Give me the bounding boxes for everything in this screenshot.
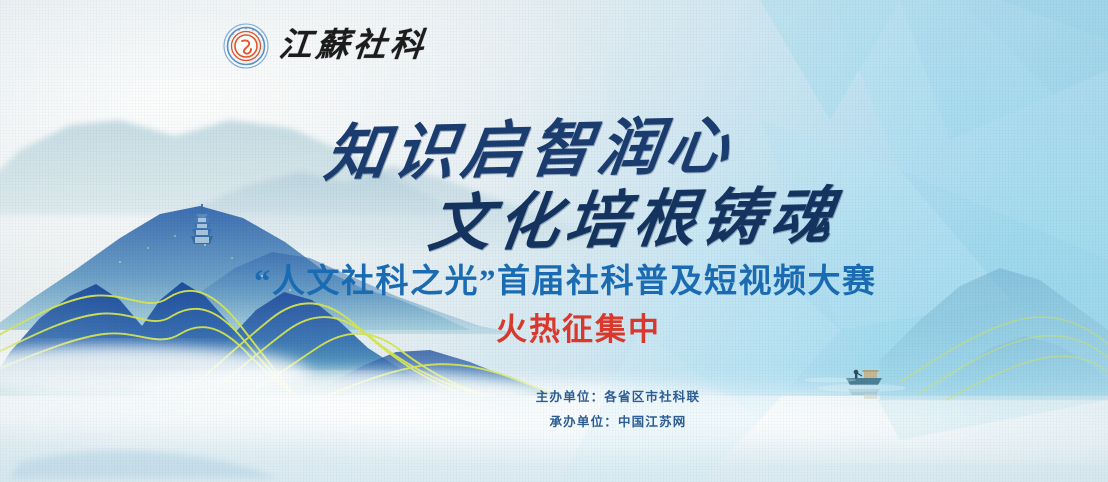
brand-logo[interactable]: 江蘇社科 [222, 22, 427, 70]
promotional-banner: 江蘇社科 知识启智润心 文化培根铸魂 “人文社科之光”首届社科普及短视频大赛 火… [0, 0, 1108, 482]
organizer-operator: 承办单位：中国江苏网 [0, 411, 1108, 430]
brand-wordmark: 江蘇社科 [277, 30, 428, 63]
call-to-action-text: 火热征集中 [496, 314, 661, 345]
organizer-host: 主办单位：各省区市社科联 [0, 386, 1108, 405]
contest-subtitle: “人文社科之光”首届社科普及短视频大赛 [254, 266, 877, 299]
headline-line-1: 知识启智润心 [321, 116, 739, 187]
headline-line-2: 文化培根铸魂 [425, 186, 843, 257]
jiangsu-social-science-seal-icon [222, 22, 270, 70]
organizer-host-label: 主办单位：各省区市社科联 [536, 386, 700, 405]
banner-content: 江蘇社科 知识启智润心 文化培根铸魂 “人文社科之光”首届社科普及短视频大赛 火… [0, 0, 1108, 482]
organizer-operator-label: 承办单位：中国江苏网 [549, 411, 686, 430]
